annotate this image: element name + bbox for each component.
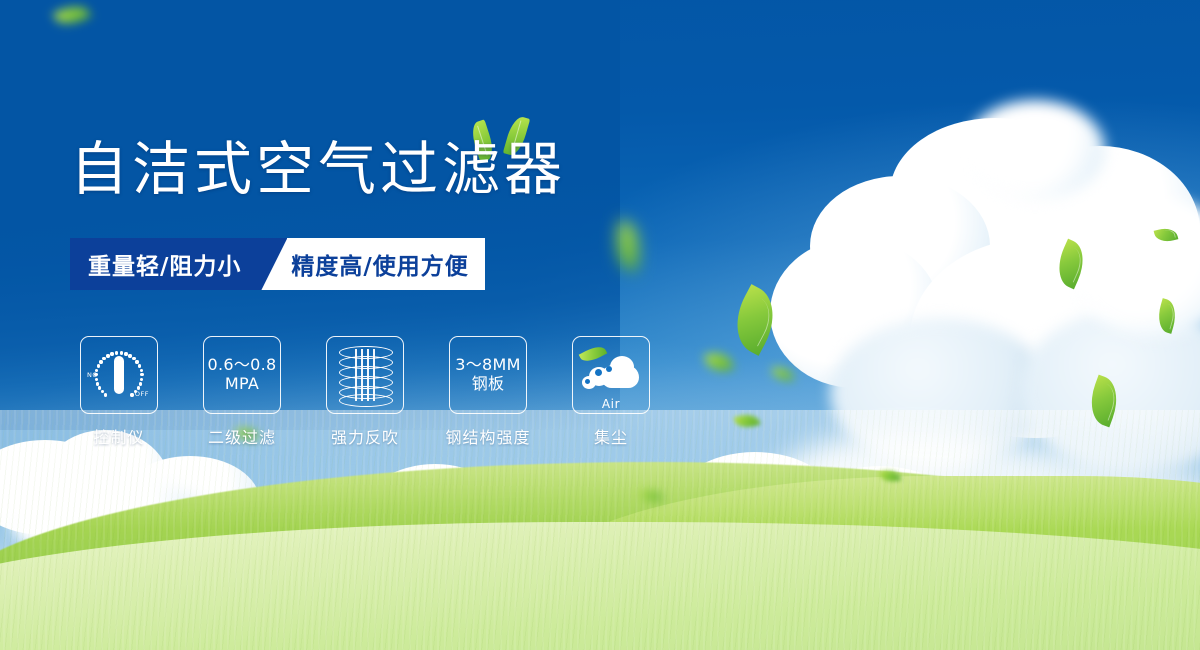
gauge-tick [96,382,99,385]
gauge-tick [135,360,138,363]
product-banner: 自洁式空气过滤器 重量轻/阻力小 精度高/使用方便 NO OFF 控制仪 [0,0,1200,650]
subtitle-divider [261,238,287,290]
steel-thickness: 3〜8MM [455,355,520,374]
feature-item-steel[interactable]: 3〜8MM 钢板 钢结构强度 [449,336,527,448]
gauge-tick [98,386,101,389]
gauge-tick [140,373,143,376]
pressure-value: 0.6〜0.8 [208,355,277,374]
gauge-tick [115,351,118,354]
subtitle-tag-bar: 重量轻/阻力小 精度高/使用方便 [70,238,485,290]
gauge-tick [99,360,102,363]
gauge-tick [120,351,123,354]
gauge-tick [124,352,127,355]
hill-front [0,522,1200,650]
feature-label: 钢结构强度 [446,424,531,448]
leaf-decor [579,343,608,366]
steel-text-icon: 3〜8MM 钢板 [455,356,520,393]
feature-label: 集尘 [594,424,628,448]
gauge-label-on: NO [87,371,98,379]
feature-item-blowback[interactable]: 强力反吹 [326,336,404,448]
feature-item-dust[interactable]: Air 集尘 [572,336,650,448]
feature-icon-box: NO OFF [80,336,158,414]
feature-list: NO OFF 控制仪 0.6〜0.8 MPA 二级过滤 [80,336,650,448]
page-title: 自洁式空气过滤器 [70,140,566,198]
gauge-tick [140,369,143,372]
gauge-label-off: OFF [135,390,149,398]
feature-item-controller[interactable]: NO OFF 控制仪 [80,336,158,448]
gauge-tick [106,354,109,357]
gauge-needle [114,356,124,394]
gauge-tick [104,393,107,396]
gauge-tick [110,352,113,355]
air-label: Air [582,397,640,411]
feature-label: 控制仪 [93,424,144,448]
subtitle-tag-right: 精度高/使用方便 [287,238,484,290]
gauge-tick [97,364,100,367]
gauge-tick [140,378,143,381]
air-cloud-icon: Air [582,352,640,398]
feature-icon-box: Air [572,336,650,414]
subtitle-tag-left: 重量轻/阻力小 [70,238,261,290]
feature-icon-box: 3〜8MM 钢板 [449,336,527,414]
gauge-icon: NO OFF [89,347,149,403]
feature-icon-box: 0.6〜0.8 MPA [203,336,281,414]
feature-label: 二级过滤 [208,424,276,448]
feature-label: 强力反吹 [331,424,399,448]
feature-item-filtration[interactable]: 0.6〜0.8 MPA 二级过滤 [203,336,281,448]
gauge-tick [138,364,141,367]
gauge-tick [130,393,133,396]
pressure-text-icon: 0.6〜0.8 MPA [208,356,277,393]
steel-material: 钢板 [455,375,520,394]
feature-icon-box [326,336,404,414]
gauge-tick [139,382,142,385]
gauge-tick [102,357,105,360]
pressure-unit: MPA [208,375,277,394]
filter-discs-icon [338,345,392,405]
